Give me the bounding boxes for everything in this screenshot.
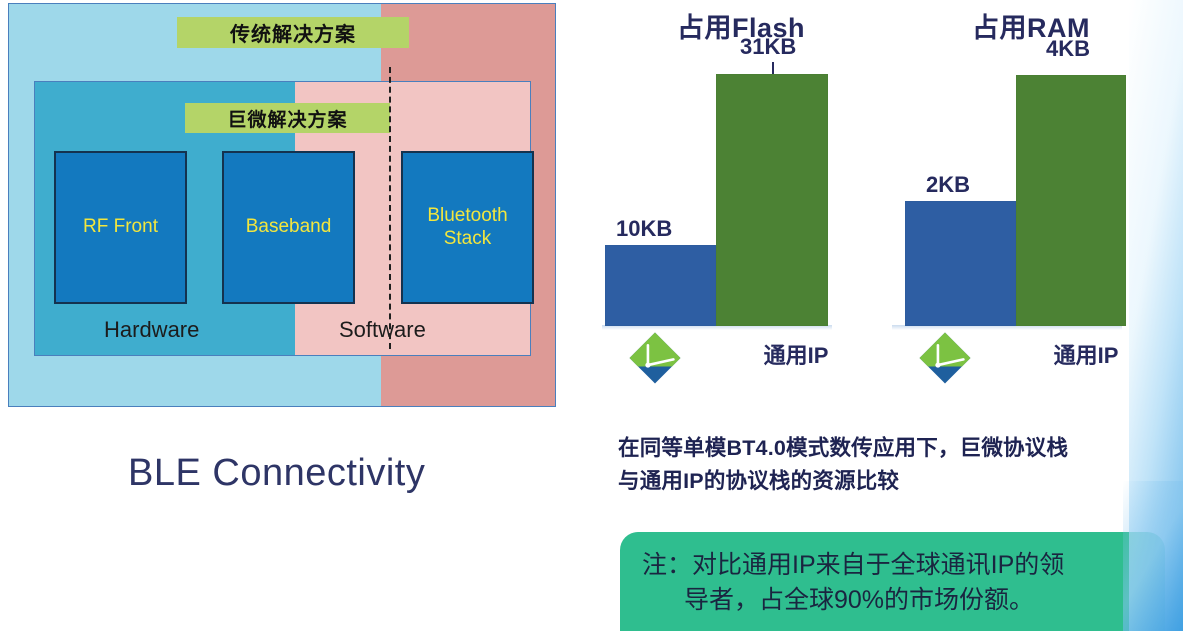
ram-plot-area: 2KB 4KB [886,50,1176,326]
flash-axis-label-generic: 通用IP [716,338,876,370]
ram-axis-row: 通用IP [886,330,1176,386]
label-hardware: Hardware [104,317,199,343]
tag-traditional-solution: 传统解决方案 [177,17,409,48]
caption-line-1: 在同等单模BT4.0模式数传应用下，巨微协议栈 [618,432,1170,465]
ram-value-generic: 4KB [1046,36,1090,62]
module-rf-front-label: RF Front [83,216,158,238]
ble-connectivity-title: BLE Connectivity [128,452,425,495]
ram-axis-label-generic: 通用IP [1006,338,1166,370]
juwei-logo-icon [626,332,684,384]
ram-chart-title: 占用RAM [886,6,1176,45]
hardware-software-divider [389,67,391,349]
ram-usage-chart: 占用RAM 2KB 4KB 通用IP [886,0,1176,400]
module-bt-line1: Bluetooth [427,205,507,226]
ram-bar-generic [1016,75,1126,326]
flash-axis-row: 通用IP [596,330,886,386]
ram-value-juwei: 2KB [926,172,970,198]
note-callout: 注：对比通用IP来自于全球通讯IP的领 导者，占全球90%的市场份额。 [620,532,1165,631]
tag-juwei-solution: 巨微解决方案 [185,103,390,133]
ram-bar-juwei [905,201,1016,326]
note-line-1: 注：对比通用IP来自于全球通讯IP的领 [642,548,1143,583]
flash-bar-generic [716,74,828,326]
flash-usage-chart: 占用Flash 10KB 31KB [596,0,886,400]
flash-value-juwei: 10KB [616,216,672,242]
note-line-2: 导者，占全球90%的市场份额。 [642,583,1143,618]
module-bluetooth-stack-label: Bluetooth Stack [427,205,507,249]
flash-value-generic: 31KB [740,34,796,60]
flash-plot-area: 10KB 31KB [596,50,886,326]
flash-bar-juwei [605,245,716,326]
caption-line-2: 与通用IP的协议栈的资源比较 [618,465,1170,498]
module-rf-front: RF Front [54,151,187,304]
slide-canvas: 传统解决方案 巨微解决方案 RF Front Baseband Bluetoot… [0,0,1183,631]
module-baseband: Baseband [222,151,355,304]
module-baseband-label: Baseband [246,216,332,238]
module-bt-line2: Stack [444,228,492,249]
ble-architecture-diagram: 传统解决方案 巨微解决方案 RF Front Baseband Bluetoot… [8,3,556,407]
module-bluetooth-stack: Bluetooth Stack [401,151,534,304]
juwei-logo-icon [916,332,974,384]
flash-value-tick-generic [772,62,774,74]
label-software: Software [339,317,426,343]
comparison-caption: 在同等单模BT4.0模式数传应用下，巨微协议栈 与通用IP的协议栈的资源比较 [618,432,1170,499]
